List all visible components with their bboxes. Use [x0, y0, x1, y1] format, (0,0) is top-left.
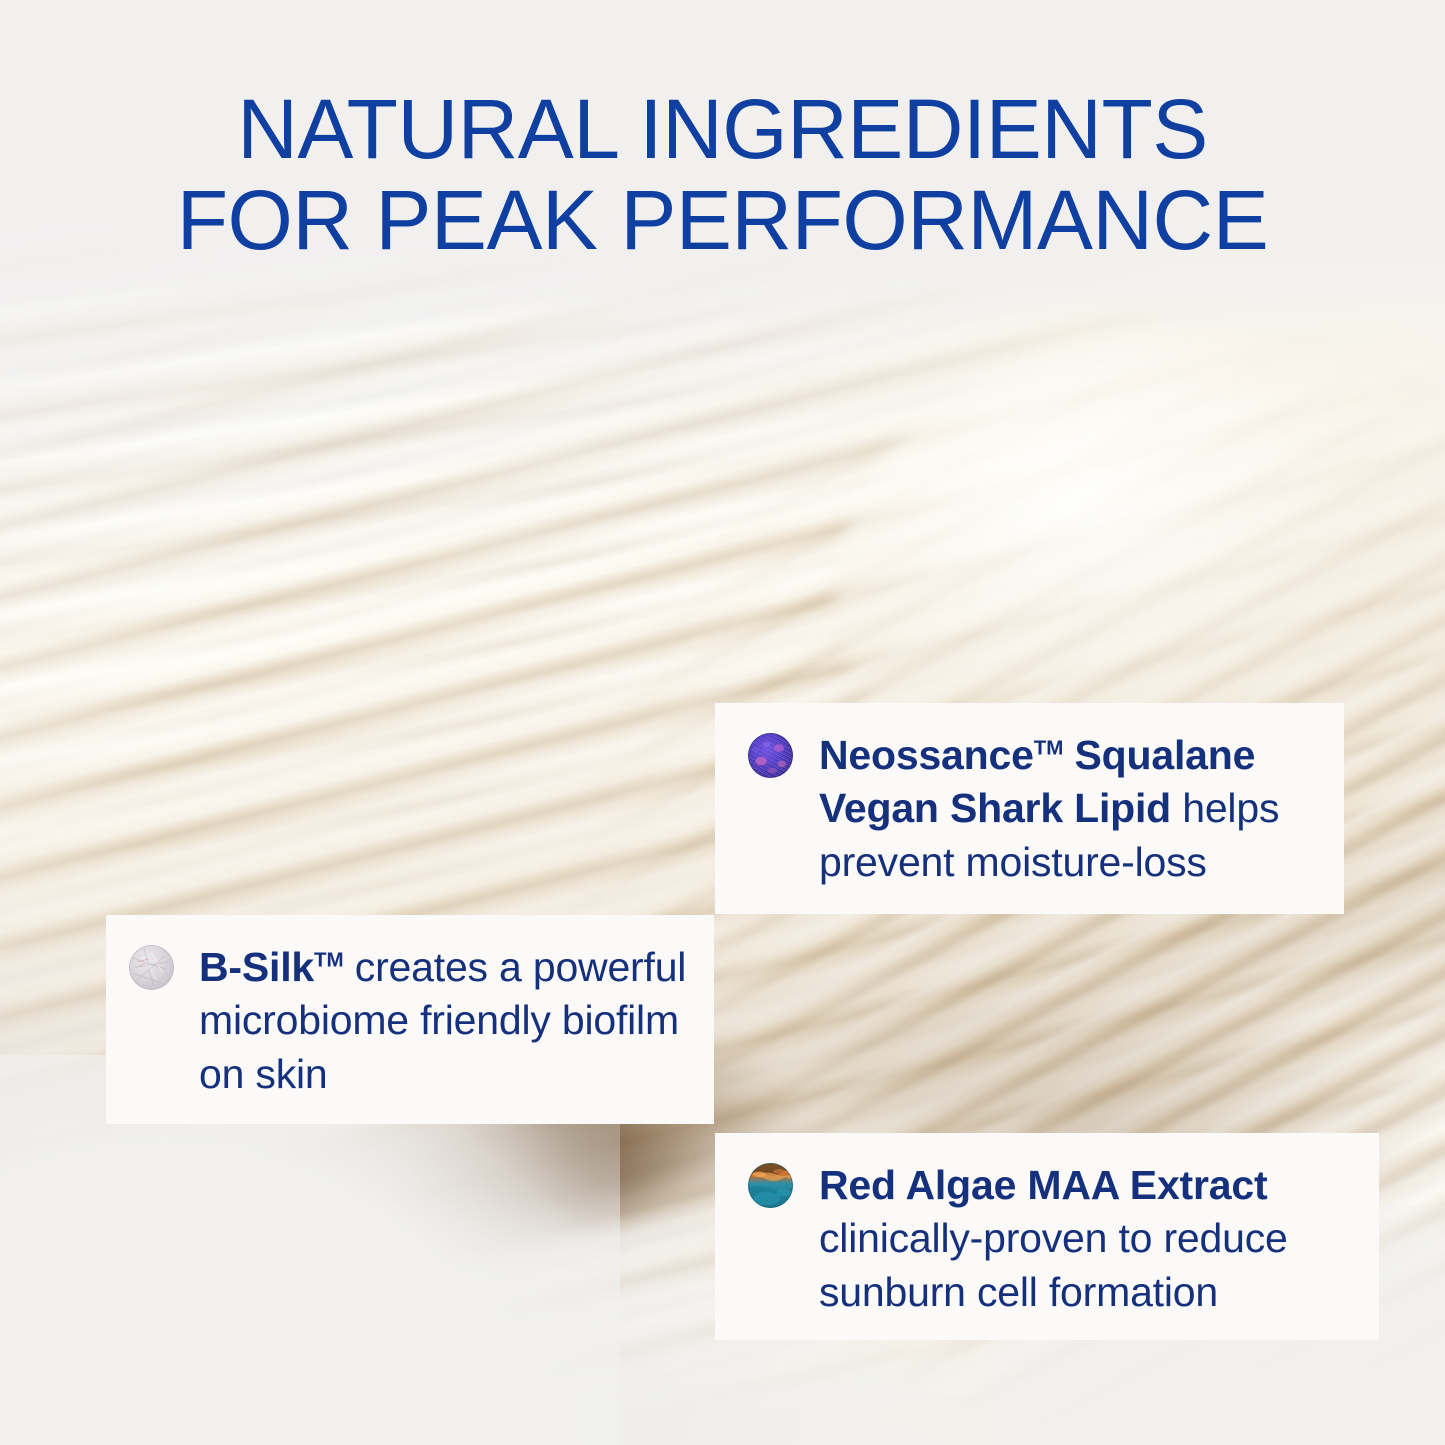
- b-silk-icon: [129, 945, 174, 990]
- ingredient-name-redalgae: Red Algae MAA Extract: [819, 1162, 1267, 1208]
- ingredient-benefit-redalgae: clinically-proven to reduce sunburn cell…: [819, 1215, 1288, 1314]
- red-algae-maa-extract-icon: [748, 1163, 793, 1208]
- ingredient-name-bsilk: B-SilkTM: [199, 944, 344, 990]
- neossance-squalane-icon: [748, 733, 793, 778]
- product-ingredient-infographic: NATURAL INGREDIENTS FOR PEAK PERFORMANCE: [0, 0, 1445, 1445]
- ingredient-card-bsilk: B-SilkTM creates a powerful microbiome f…: [106, 915, 714, 1124]
- ingredient-card-neossance: NeossanceTM Squalane Vegan Shark Lipid h…: [715, 703, 1344, 914]
- ingredient-description-neossance: NeossanceTM Squalane Vegan Shark Lipid h…: [819, 729, 1328, 889]
- ingredient-card-redalgae: Red Algae MAA Extract clinically-proven …: [715, 1133, 1379, 1340]
- ingredient-description-redalgae: Red Algae MAA Extract clinically-proven …: [819, 1159, 1363, 1319]
- ingredient-description-bsilk: B-SilkTM creates a powerful microbiome f…: [199, 941, 698, 1101]
- page-title: NATURAL INGREDIENTS FOR PEAK PERFORMANCE: [0, 84, 1445, 265]
